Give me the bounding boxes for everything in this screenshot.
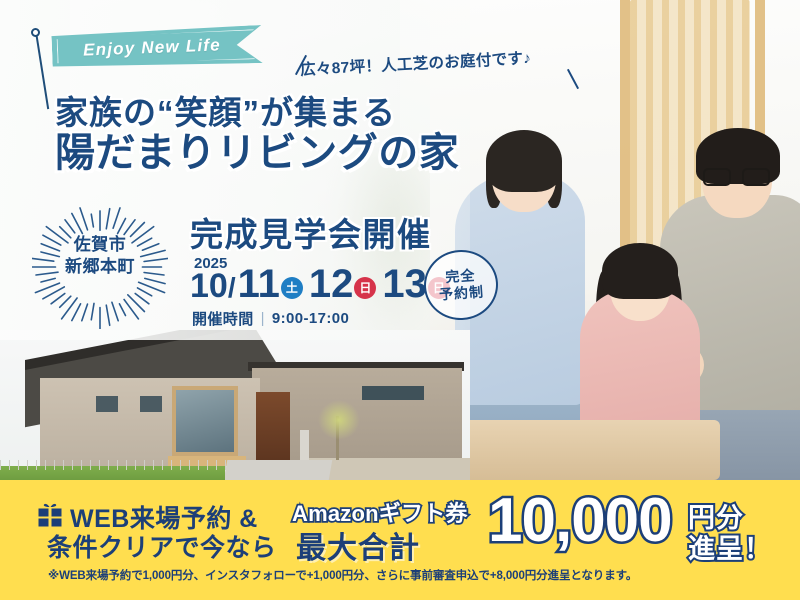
coffee-table: [430, 420, 720, 480]
headline-line-2: 陽だまりリビングの家: [55, 133, 459, 175]
flagpole-knob-icon: [31, 28, 40, 37]
location-city: 佐賀市: [32, 234, 168, 256]
house-window-small-1: [96, 396, 118, 412]
house-glass-door: [172, 386, 238, 456]
gift-box-icon: [36, 500, 64, 528]
event-time-value: 9:00-17:00: [272, 310, 349, 327]
father-glasses-icon: [702, 168, 772, 186]
event-dow-1: 土: [281, 277, 303, 299]
event-title: 完成見学会開催: [190, 208, 432, 256]
location-town: 新郷本町: [32, 256, 168, 278]
house-entry-door: [256, 392, 290, 460]
event-day-1: 11: [238, 266, 280, 303]
headline: 家族の“笑顔”が集まる 陽だまりリビングの家: [55, 96, 459, 175]
tree-foliage: [318, 400, 360, 440]
event-date-slash: /: [228, 274, 236, 302]
campaign-disclaimer: ※WEB来場予約で1,000円分、インスタフォローで+1,000円分、さらに事前…: [48, 567, 637, 583]
gift-amount: 10,000: [488, 490, 672, 552]
family-photo: [430, 0, 800, 480]
event-time-label: 開催時間: [192, 308, 254, 329]
event-time: 開催時間 | 9:00-17:00: [192, 308, 349, 329]
advertisement-flyer: Enjoy New Life 広々87坪！人工芝のお庭付です♪ 家族の“笑顔”が…: [0, 0, 800, 600]
event-dates: 10 / 11 土 12 日 13 日: [190, 266, 455, 303]
house-window-long: [362, 386, 424, 400]
headline-line-1: 家族の“笑顔”が集まる: [55, 96, 459, 130]
mother-hair: [486, 130, 562, 192]
event-dow-2: 日: [354, 277, 376, 299]
fence: [0, 460, 228, 470]
campaign-line-2: 条件クリアで今なら: [47, 528, 277, 564]
reservation-stamp-line-2: 予約制: [439, 283, 485, 304]
event-month: 10: [190, 269, 228, 303]
mailbox-post: [300, 430, 309, 460]
event-day-3: 13: [382, 266, 427, 303]
gift-amount-award: 進呈！: [688, 527, 772, 566]
amazon-max-total-label: 最大合計: [296, 523, 420, 567]
walkway: [223, 460, 333, 480]
ribbon-label: Enjoy New Life: [51, 25, 252, 71]
event-day-2: 12: [309, 266, 354, 303]
girl-hair: [602, 243, 678, 299]
house-window-small-2: [140, 396, 162, 412]
location-block: 佐賀市 新郷本町: [32, 234, 168, 278]
event-time-divider: |: [261, 310, 265, 327]
house-exterior-photo: [0, 330, 470, 480]
